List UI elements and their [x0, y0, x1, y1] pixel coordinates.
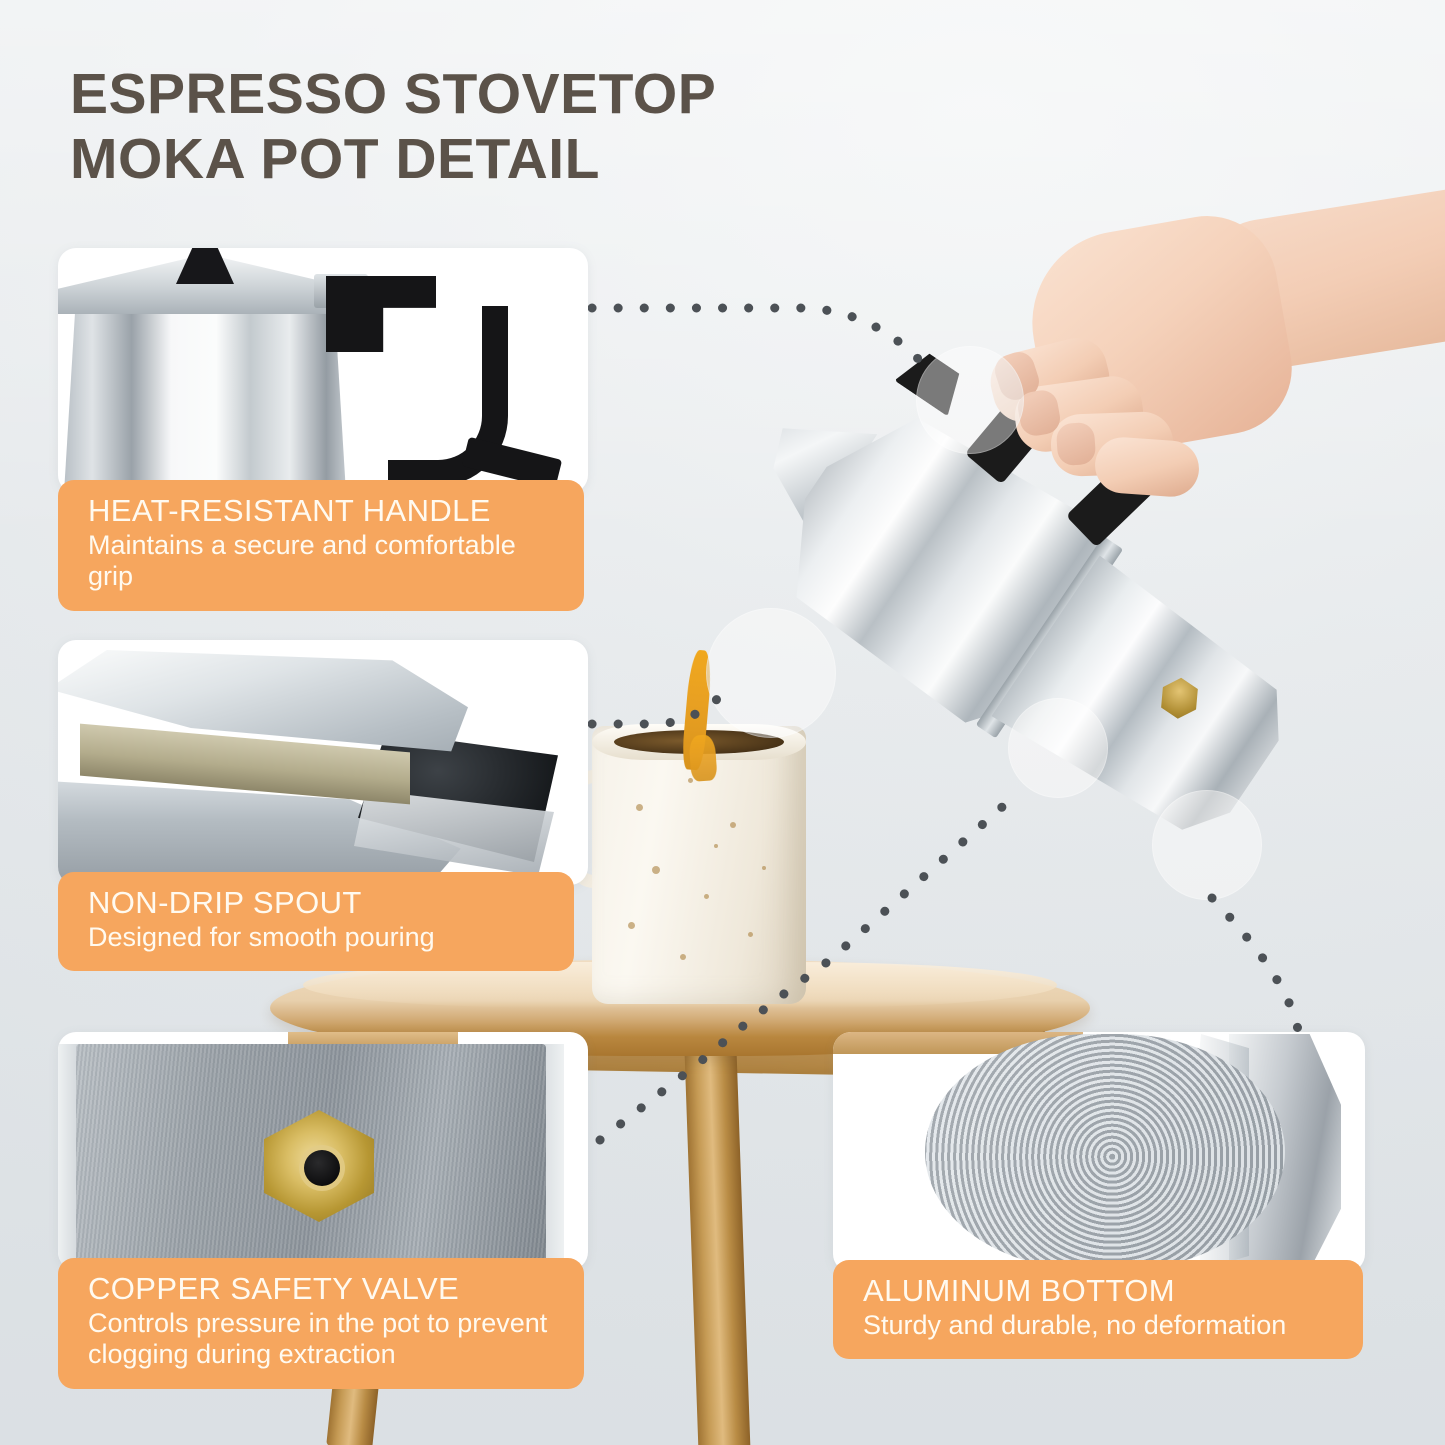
valve-hole-thumb — [304, 1150, 340, 1186]
feature-description: Controls pressure in the pot to prevent … — [88, 1308, 562, 1371]
feature-description: Maintains a secure and comfortable grip — [88, 530, 562, 593]
page-title: ESPRESSO STOVETOP MOKA POT DETAIL — [70, 62, 890, 192]
feature-photo-valve — [58, 1032, 588, 1270]
feature-photo-spout — [58, 640, 588, 885]
concentric-base-thumb — [925, 1034, 1285, 1270]
hand — [955, 195, 1445, 525]
finger-little — [1093, 435, 1201, 498]
feature-heading: ALUMINUM BOTTOM — [863, 1274, 1341, 1308]
feature-card-heat-resistant-handle[interactable]: HEAT-RESISTANT HANDLE Maintains a secure… — [58, 248, 588, 603]
title-line-1: ESPRESSO STOVETOP — [70, 62, 890, 127]
feature-description: Sturdy and durable, no deformation — [863, 1310, 1341, 1341]
feature-heading: NON-DRIP SPOUT — [88, 886, 552, 920]
feature-description: Designed for smooth pouring — [88, 922, 552, 953]
spout-hotspot — [706, 608, 836, 738]
feature-card-aluminum-bottom[interactable]: ALUMINUM BOTTOM Sturdy and durable, no d… — [833, 1032, 1365, 1362]
black-handle-thumb — [326, 276, 346, 466]
feature-label-spout: NON-DRIP SPOUT Designed for smooth pouri… — [58, 872, 574, 971]
feature-label-valve: COPPER SAFETY VALVE Controls pressure in… — [58, 1258, 584, 1389]
bottom-hotspot — [1152, 790, 1262, 900]
pot-knob-thumb — [176, 248, 234, 284]
stool-leg-center — [684, 1035, 751, 1445]
infographic-canvas: ESPRESSO STOVETOP MOKA POT DETAIL HEAT-R… — [0, 0, 1445, 1445]
feature-label-bottom: ALUMINUM BOTTOM Sturdy and durable, no d… — [833, 1260, 1363, 1359]
feature-card-non-drip-spout[interactable]: NON-DRIP SPOUT Designed for smooth pouri… — [58, 640, 588, 988]
feature-photo-handle — [58, 248, 588, 493]
feature-heading: HEAT-RESISTANT HANDLE — [88, 494, 562, 528]
feature-label-handle: HEAT-RESISTANT HANDLE Maintains a secure… — [58, 480, 584, 611]
title-line-2: MOKA POT DETAIL — [70, 127, 890, 192]
feature-photo-bottom — [833, 1032, 1365, 1272]
fingernail-ring — [1056, 422, 1097, 467]
handle-hotspot — [916, 346, 1024, 454]
feature-heading: COPPER SAFETY VALVE — [88, 1272, 562, 1306]
feature-card-copper-safety-valve[interactable]: COPPER SAFETY VALVE Controls pressure in… — [58, 1032, 588, 1394]
valve-hotspot — [1008, 698, 1108, 798]
